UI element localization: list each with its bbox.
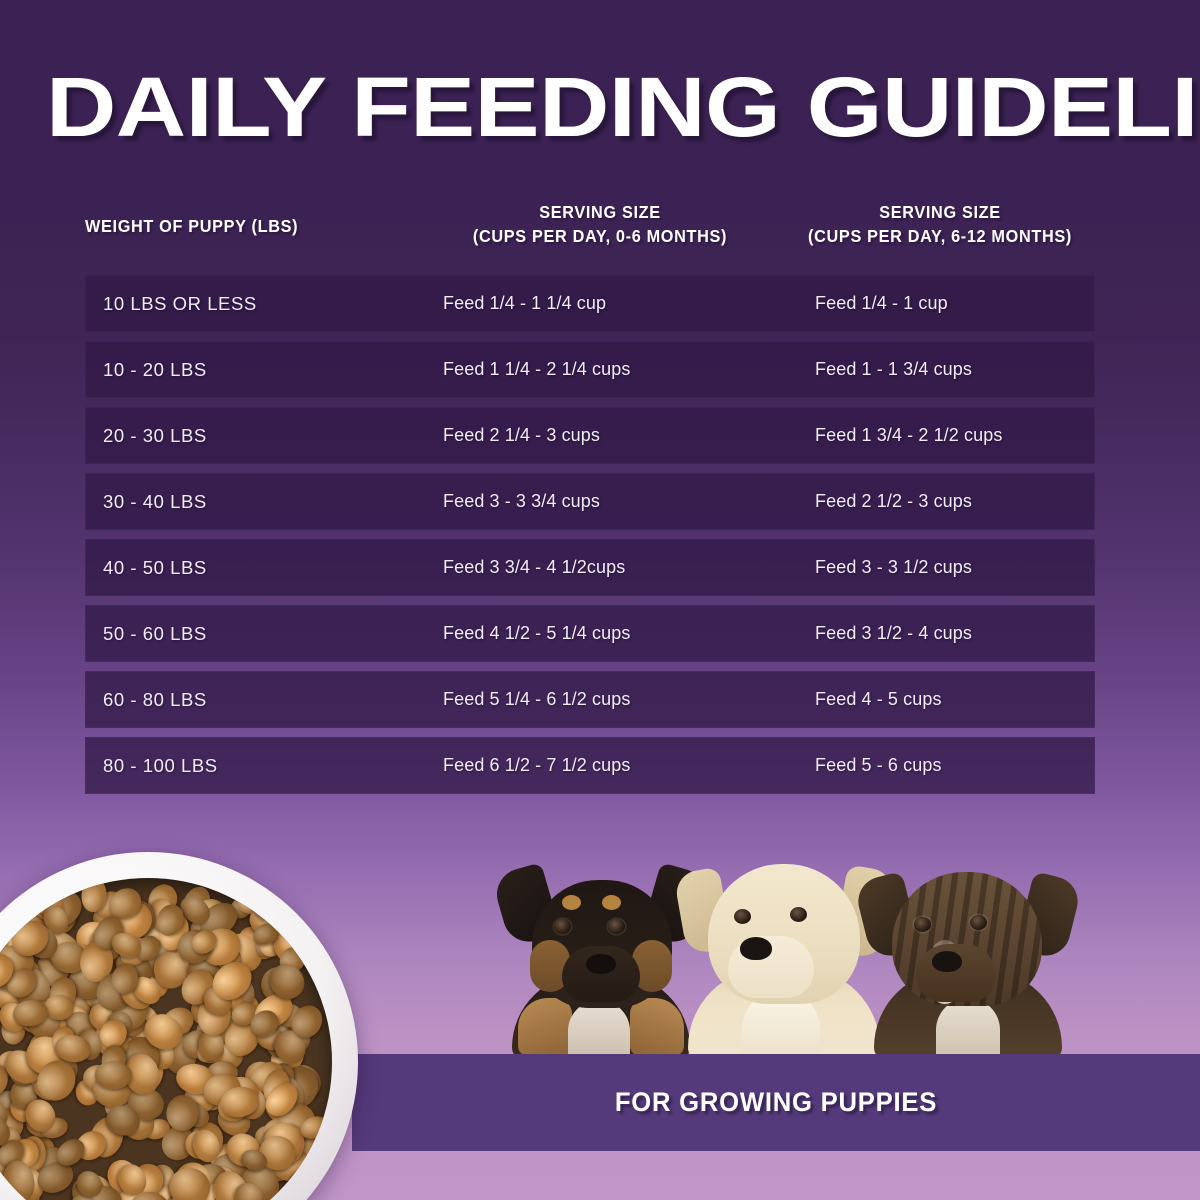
table-row: 50 - 60 LBS Feed 4 1/2 - 5 1/4 cups Feed… bbox=[85, 605, 1095, 662]
table-row: 60 - 80 LBS Feed 5 1/4 - 6 1/2 cups Feed… bbox=[85, 671, 1095, 728]
cell-serving-0-6: Feed 6 1/2 - 7 1/2 cups bbox=[443, 737, 630, 794]
column-header-serving-6-12-line1: SERVING SIZE bbox=[763, 200, 1116, 224]
column-header-serving-6-12: SERVING SIZE (CUPS PER DAY, 6-12 MONTHS) bbox=[763, 200, 1116, 248]
puppy1-chest-patch bbox=[568, 1000, 630, 1060]
cell-serving-6-12: Feed 3 1/2 - 4 cups bbox=[815, 605, 972, 662]
brindle-puppy-image bbox=[870, 848, 1066, 1060]
table-row: 30 - 40 LBS Feed 3 - 3 3/4 cups Feed 2 1… bbox=[85, 473, 1095, 530]
puppy1-tan-marking-right bbox=[630, 998, 684, 1056]
puppy1-nose bbox=[586, 954, 616, 974]
cell-weight: 60 - 80 LBS bbox=[103, 671, 207, 728]
cell-serving-0-6: Feed 2 1/4 - 3 cups bbox=[443, 407, 600, 464]
puppy2-right-eye bbox=[790, 907, 807, 922]
puppy1-tan-marking-left bbox=[518, 998, 572, 1056]
cell-serving-0-6: Feed 5 1/4 - 6 1/2 cups bbox=[443, 671, 630, 728]
table-header-row: WEIGHT OF PUPPY (LBS) SERVING SIZE (CUPS… bbox=[85, 196, 1095, 258]
column-header-serving-6-12-line2: (CUPS PER DAY, 6-12 MONTHS) bbox=[763, 224, 1116, 248]
cell-serving-6-12: Feed 3 - 3 1/2 cups bbox=[815, 539, 972, 596]
column-header-serving-0-6-line2: (CUPS PER DAY, 0-6 MONTHS) bbox=[423, 224, 776, 248]
dog-food-bowl-image bbox=[0, 852, 358, 1200]
puppy3-chest-patch bbox=[936, 998, 1000, 1060]
column-header-weight-line1: WEIGHT OF PUPPY (LBS) bbox=[85, 214, 298, 238]
feeding-guidelines-poster: DAILY FEEDING GUIDELINES WEIGHT OF PUPPY… bbox=[0, 0, 1200, 1200]
kibble-piece bbox=[94, 1060, 132, 1089]
column-header-weight: WEIGHT OF PUPPY (LBS) bbox=[85, 214, 298, 238]
footer-banner: FOR GROWING PUPPIES bbox=[352, 1054, 1200, 1151]
puppy1-right-eyebrow-dot bbox=[602, 895, 621, 910]
page-title: DAILY FEEDING GUIDELINES bbox=[46, 64, 1200, 150]
table-row: 10 LBS OR LESS Feed 1/4 - 1 1/4 cup Feed… bbox=[85, 275, 1095, 332]
cell-weight: 20 - 30 LBS bbox=[103, 407, 207, 464]
puppy2-nose bbox=[740, 937, 772, 960]
cell-weight: 80 - 100 LBS bbox=[103, 737, 218, 794]
cell-weight: 50 - 60 LBS bbox=[103, 605, 207, 662]
cell-serving-0-6: Feed 1 1/4 - 2 1/4 cups bbox=[443, 341, 630, 398]
puppy1-left-eyebrow-dot bbox=[562, 895, 581, 910]
cell-serving-0-6: Feed 3 - 3 3/4 cups bbox=[443, 473, 600, 530]
cell-serving-6-12: Feed 2 1/2 - 3 cups bbox=[815, 473, 972, 530]
cell-serving-6-12: Feed 4 - 5 cups bbox=[815, 671, 942, 728]
puppy1-left-eye bbox=[554, 919, 571, 934]
puppy3-nose bbox=[932, 951, 962, 972]
puppy1-right-eye bbox=[608, 919, 625, 934]
feeding-table: 10 LBS OR LESS Feed 1/4 - 1 1/4 cup Feed… bbox=[85, 275, 1095, 803]
cell-serving-0-6: Feed 1/4 - 1 1/4 cup bbox=[443, 275, 606, 332]
table-row: 10 - 20 LBS Feed 1 1/4 - 2 1/4 cups Feed… bbox=[85, 341, 1095, 398]
cell-serving-6-12: Feed 5 - 6 cups bbox=[815, 737, 942, 794]
cell-serving-0-6: Feed 4 1/2 - 5 1/4 cups bbox=[443, 605, 630, 662]
cell-serving-6-12: Feed 1/4 - 1 cup bbox=[815, 275, 948, 332]
table-row: 20 - 30 LBS Feed 2 1/4 - 3 cups Feed 1 3… bbox=[85, 407, 1095, 464]
cream-labrador-puppy-image bbox=[684, 845, 884, 1060]
puppy3-right-eye bbox=[970, 915, 987, 930]
table-row: 80 - 100 LBS Feed 6 1/2 - 7 1/2 cups Fee… bbox=[85, 737, 1095, 794]
puppies-photo-group bbox=[498, 845, 1068, 1060]
column-header-serving-0-6: SERVING SIZE (CUPS PER DAY, 0-6 MONTHS) bbox=[423, 200, 776, 248]
puppy3-left-eye bbox=[914, 917, 931, 932]
cell-serving-6-12: Feed 1 3/4 - 2 1/2 cups bbox=[815, 407, 1002, 464]
cell-weight: 30 - 40 LBS bbox=[103, 473, 207, 530]
cell-weight: 40 - 50 LBS bbox=[103, 539, 207, 596]
table-row: 40 - 50 LBS Feed 3 3/4 - 4 1/2cups Feed … bbox=[85, 539, 1095, 596]
cell-serving-0-6: Feed 3 3/4 - 4 1/2cups bbox=[443, 539, 625, 596]
column-header-serving-0-6-line1: SERVING SIZE bbox=[423, 200, 776, 224]
cell-weight: 10 - 20 LBS bbox=[103, 341, 207, 398]
cell-serving-6-12: Feed 1 - 1 3/4 cups bbox=[815, 341, 972, 398]
black-and-tan-puppy-image bbox=[506, 855, 696, 1060]
puppy2-left-eye bbox=[734, 909, 751, 924]
cell-weight: 10 LBS OR LESS bbox=[103, 275, 257, 332]
bowl-interior bbox=[0, 878, 332, 1200]
footer-banner-label: FOR GROWING PUPPIES bbox=[373, 1054, 1179, 1151]
